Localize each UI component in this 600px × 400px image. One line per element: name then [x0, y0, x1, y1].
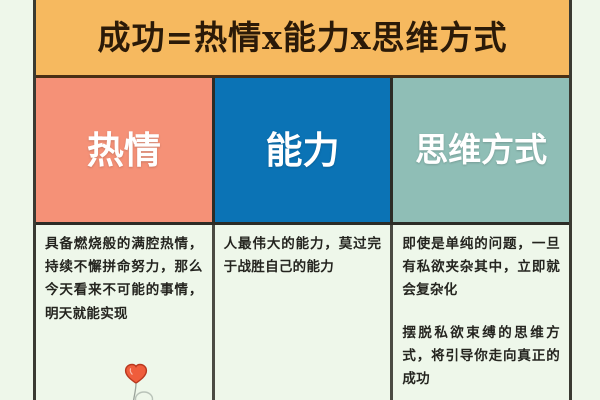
- description-cell-ability: 人最伟大的能力，莫过完于战胜自己的能力: [212, 225, 391, 400]
- heading-cell-passion: 热情: [36, 78, 212, 222]
- description-paragraph: 摆脱私欲束缚的思维方式，将引导你走向真正的成功: [402, 322, 560, 392]
- heading-cell-ability: 能力: [212, 78, 391, 222]
- description-row: 具备燃烧般的满腔热情，持续不懈拼命努力，那么今天看来不可能的事情，明天就能实现 …: [36, 225, 569, 400]
- heading-row: 热情 能力 思维方式: [36, 78, 569, 225]
- title-banner: 成功=热情x能力x思维方式: [36, 0, 569, 78]
- description-paragraph: 人最伟大的能力，莫过完于战胜自己的能力: [224, 233, 382, 279]
- poster-root: 成功=热情x能力x思维方式 热情 能力 思维方式 具备燃烧般的满腔热情，持续不懈…: [0, 0, 600, 400]
- heart-balloon-icon: [114, 356, 168, 400]
- description-paragraph: 即使是单纯的问题，一旦有私欲夹杂其中，立即就会复杂化: [402, 233, 560, 303]
- page-title: 成功=热情x能力x思维方式: [98, 21, 508, 54]
- description-cell-passion: 具备燃烧般的满腔热情，持续不懈拼命努力，那么今天看来不可能的事情，明天就能实现: [36, 225, 212, 400]
- formula-table: 成功=热情x能力x思维方式 热情 能力 思维方式 具备燃烧般的满腔热情，持续不懈…: [33, 0, 572, 400]
- heading-cell-mindset: 思维方式: [390, 78, 569, 222]
- heading-label-ability: 能力: [260, 127, 346, 173]
- heading-label-mindset: 思维方式: [409, 129, 553, 170]
- heading-label-passion: 热情: [81, 127, 167, 173]
- description-cell-mindset: 即使是单纯的问题，一旦有私欲夹杂其中，立即就会复杂化 摆脱私欲束缚的思维方式，将…: [390, 225, 569, 400]
- description-paragraph: 具备燃烧般的满腔热情，持续不懈拼命努力，那么今天看来不可能的事情，明天就能实现: [45, 233, 203, 326]
